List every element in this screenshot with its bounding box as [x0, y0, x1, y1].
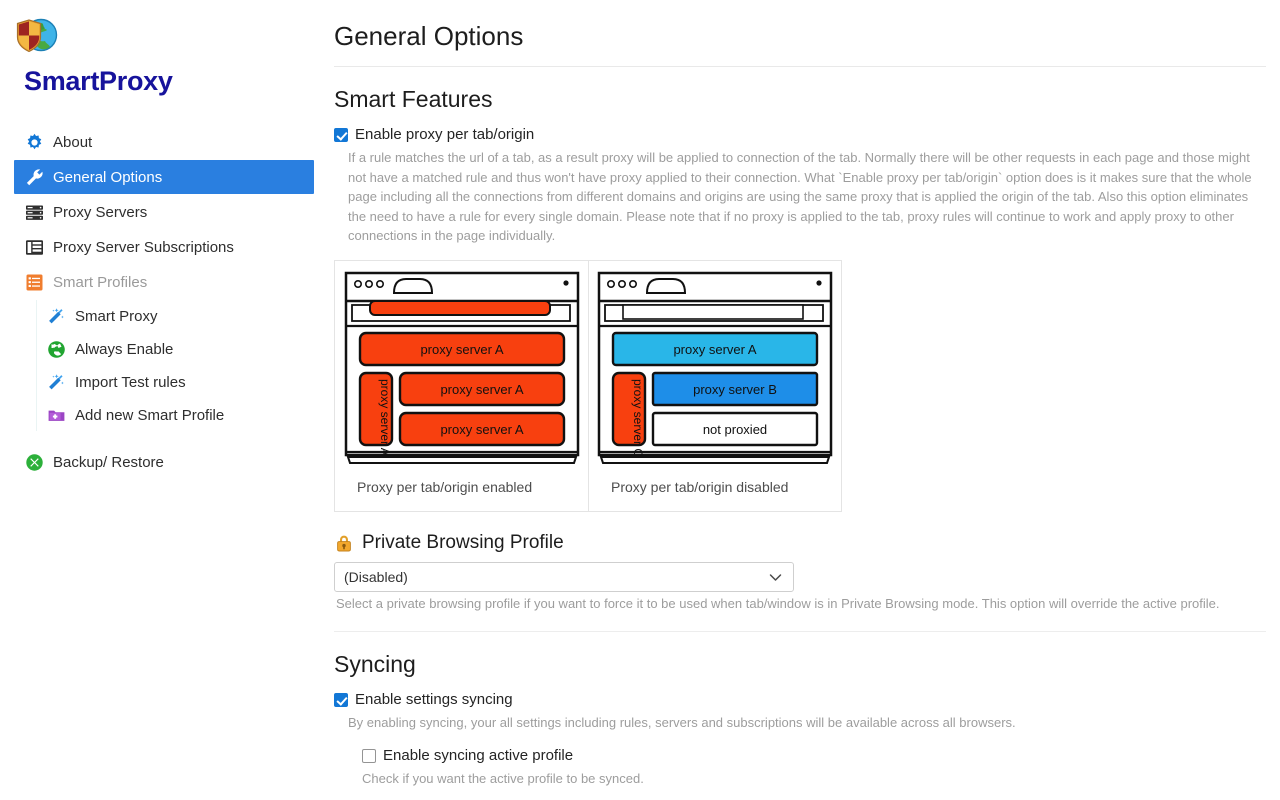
- fig-label-block1: proxy server B: [693, 382, 777, 397]
- sidebar-item-label: Import Test rules: [75, 374, 186, 391]
- sidebar-nav: About General Options: [0, 125, 330, 479]
- enable-proxy-per-tab-label: Enable proxy per tab/origin: [355, 124, 534, 146]
- sidebar-item-add-new-smart-profile[interactable]: Add new Smart Profile: [37, 399, 314, 431]
- sidebar-item-label: Proxy Servers: [53, 204, 147, 221]
- sidebar-item-label: Add new Smart Profile: [75, 407, 224, 424]
- app-root: SmartProxy About General Option: [0, 0, 1280, 800]
- fig-label-block2: not proxied: [703, 422, 767, 437]
- section-title-syncing: Syncing: [334, 649, 1266, 679]
- private-browsing-help: Select a private browsing profile if you…: [336, 594, 1266, 614]
- enable-proxy-per-tab-row[interactable]: Enable proxy per tab/origin: [334, 124, 1266, 146]
- sidebar-item-label: Backup/ Restore: [53, 454, 164, 471]
- enable-settings-syncing-help: By enabling syncing, your all settings i…: [348, 713, 1266, 733]
- card-caption: Proxy per tab/origin enabled: [343, 467, 580, 511]
- private-browsing-heading-text: Private Browsing Profile: [362, 532, 564, 554]
- private-browsing-select-wrap: (Disabled): [334, 562, 794, 592]
- browser-diagram-disabled: proxy server A proxy server C proxy serv…: [597, 271, 833, 467]
- shield-globe-icon: [12, 14, 58, 60]
- sidebar-item-label: General Options: [53, 169, 162, 186]
- brand-name: SmartProxy: [12, 60, 330, 97]
- wrench-icon: [25, 168, 44, 187]
- private-browsing-heading: Private Browsing Profile: [334, 532, 1266, 554]
- fig-label-block2: proxy server A: [440, 422, 523, 437]
- gear-icon: [25, 133, 44, 152]
- enable-proxy-per-tab-help: If a rule matches the url of a tab, as a…: [348, 148, 1266, 246]
- sidebar-item-always-enable[interactable]: Always Enable: [37, 333, 314, 365]
- add-folder-icon: [47, 406, 66, 425]
- title-divider: [334, 66, 1266, 67]
- green-globe-icon: [47, 340, 66, 359]
- enable-syncing-active-profile-help: Check if you want the active profile to …: [362, 769, 1266, 789]
- sidebar-item-backup-restore[interactable]: Backup/ Restore: [14, 445, 314, 479]
- fig-label-sidebar: proxy server A: [378, 379, 392, 456]
- sidebar-item-general-options[interactable]: General Options: [14, 160, 314, 194]
- sidebar-item-label: About: [53, 134, 92, 151]
- sidebar-item-proxy-server-subscriptions[interactable]: Proxy Server Subscriptions: [14, 230, 314, 264]
- page-title: General Options: [334, 18, 1266, 54]
- syncing-divider: [334, 631, 1266, 632]
- sidebar-item-label: Proxy Server Subscriptions: [53, 239, 234, 256]
- fig-label-top: proxy server A: [673, 342, 756, 357]
- sidebar-subnav: Smart Proxy Always Enable: [36, 300, 330, 431]
- sidebar-item-label: Smart Profiles: [53, 274, 147, 291]
- magic-wand-icon: [47, 307, 66, 326]
- sidebar-item-import-test-rules[interactable]: Import Test rules: [37, 366, 314, 398]
- enable-syncing-active-profile-checkbox[interactable]: [362, 749, 376, 763]
- main-content: General Options Smart Features Enable pr…: [330, 0, 1280, 800]
- sidebar-item-proxy-servers[interactable]: Proxy Servers: [14, 195, 314, 229]
- card-proxy-per-tab-enabled: proxy server A proxy server A proxy serv…: [335, 261, 588, 511]
- fig-label-sidebar: proxy server C: [631, 379, 645, 457]
- list-box-icon: [25, 238, 44, 257]
- private-browsing-profile-select[interactable]: (Disabled): [334, 562, 794, 592]
- fig-label-block1: proxy server A: [440, 382, 523, 397]
- fig-label-top: proxy server A: [420, 342, 503, 357]
- sidebar: SmartProxy About General Option: [0, 0, 330, 800]
- sidebar-item-label: Always Enable: [75, 341, 173, 358]
- sidebar-item-smart-profiles[interactable]: Smart Profiles: [14, 265, 314, 299]
- enable-settings-syncing-label: Enable settings syncing: [355, 689, 513, 711]
- magic-wand-icon: [47, 373, 66, 392]
- browser-diagram-enabled: proxy server A proxy server A proxy serv…: [344, 271, 580, 467]
- card-proxy-per-tab-disabled: proxy server A proxy server C proxy serv…: [588, 261, 841, 511]
- server-stack-icon: [25, 203, 44, 222]
- enable-settings-syncing-checkbox[interactable]: [334, 693, 348, 707]
- proxy-illustration-cards: proxy server A proxy server A proxy serv…: [334, 260, 842, 512]
- sidebar-item-label: Smart Proxy: [75, 308, 158, 325]
- enable-syncing-active-profile-row[interactable]: Enable syncing active profile: [362, 745, 1266, 767]
- lock-icon: [334, 533, 354, 553]
- section-title-smart-features: Smart Features: [334, 84, 1266, 114]
- brand: SmartProxy: [0, 0, 330, 97]
- orange-list-icon: [25, 273, 44, 292]
- enable-syncing-active-profile-label: Enable syncing active profile: [383, 745, 573, 767]
- sidebar-item-about[interactable]: About: [14, 125, 314, 159]
- sidebar-item-smart-proxy[interactable]: Smart Proxy: [37, 300, 314, 332]
- green-x-circle-icon: [25, 453, 44, 472]
- enable-proxy-per-tab-checkbox[interactable]: [334, 128, 348, 142]
- card-caption: Proxy per tab/origin disabled: [597, 467, 833, 511]
- enable-settings-syncing-row[interactable]: Enable settings syncing: [334, 689, 1266, 711]
